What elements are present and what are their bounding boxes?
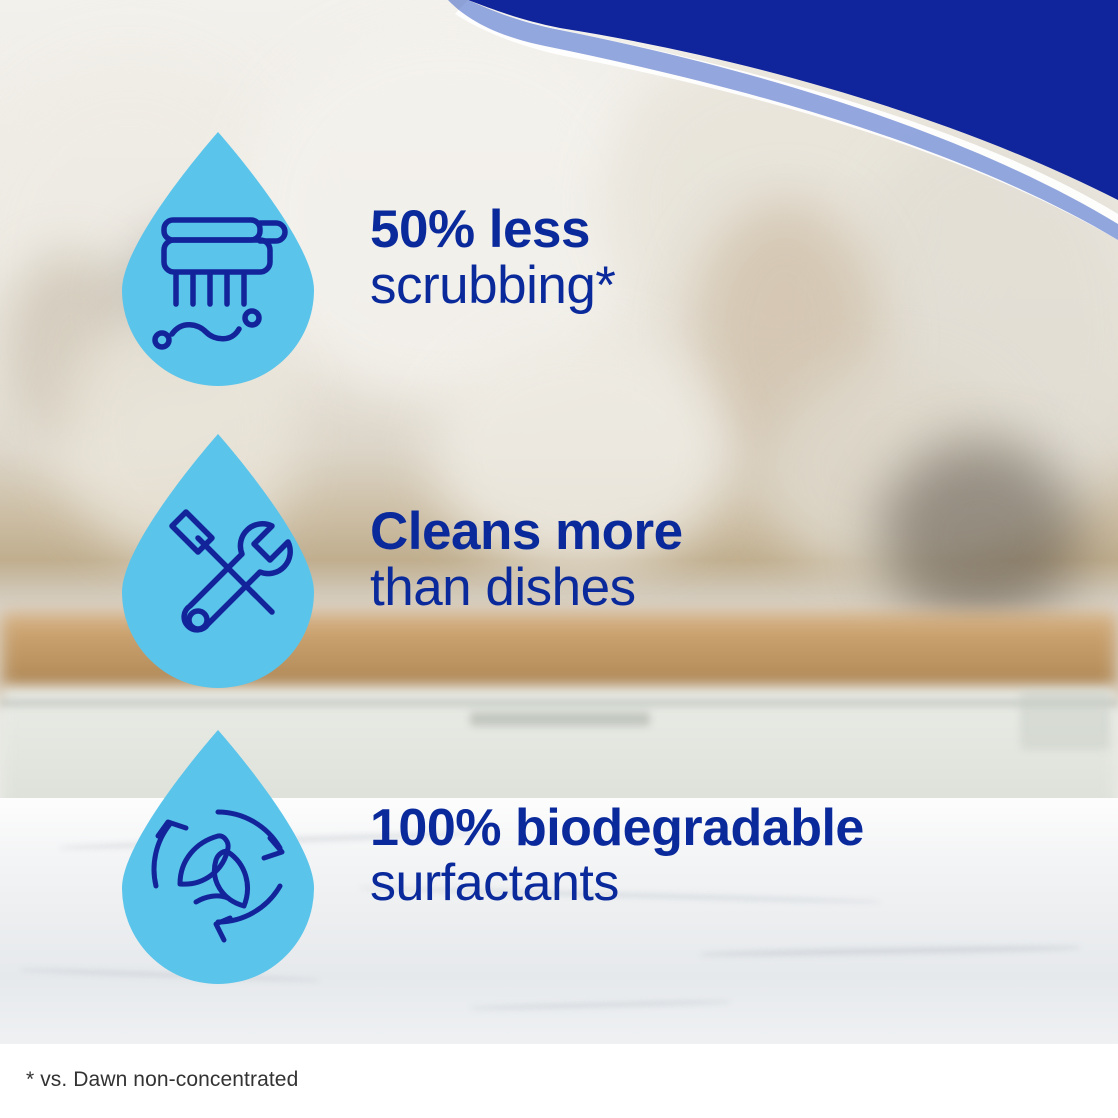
droplet-badge xyxy=(112,726,324,986)
product-benefits-graphic: 50% less scrubbing* xyxy=(0,0,1118,1118)
droplet-badge xyxy=(112,430,324,690)
droplet-badge xyxy=(112,128,324,388)
benefit-headline: 100% biodegradable xyxy=(370,801,864,856)
benefit-text: 50% less scrubbing* xyxy=(370,202,615,314)
benefit-headline: Cleans more xyxy=(370,504,683,560)
benefit-text: 100% biodegradable surfactants xyxy=(370,801,864,911)
footnote-text: * vs. Dawn non-concentrated xyxy=(26,1068,298,1092)
benefit-list: 50% less scrubbing* xyxy=(0,0,1118,1118)
benefit-row-scrubbing: 50% less scrubbing* xyxy=(112,128,615,388)
benefit-text: Cleans more than dishes xyxy=(370,504,683,616)
benefit-subline: than dishes xyxy=(370,560,683,616)
benefit-row-cleans-more: Cleans more than dishes xyxy=(112,430,683,690)
recycle-leaves-icon xyxy=(112,726,324,986)
scrub-brush-icon xyxy=(112,128,324,388)
tools-wrench-screwdriver-icon xyxy=(112,430,324,690)
benefit-subline: scrubbing* xyxy=(370,258,615,314)
benefit-headline: 50% less xyxy=(370,202,615,258)
benefit-row-biodegradable: 100% biodegradable surfactants xyxy=(112,726,864,986)
benefit-subline: surfactants xyxy=(370,856,864,911)
